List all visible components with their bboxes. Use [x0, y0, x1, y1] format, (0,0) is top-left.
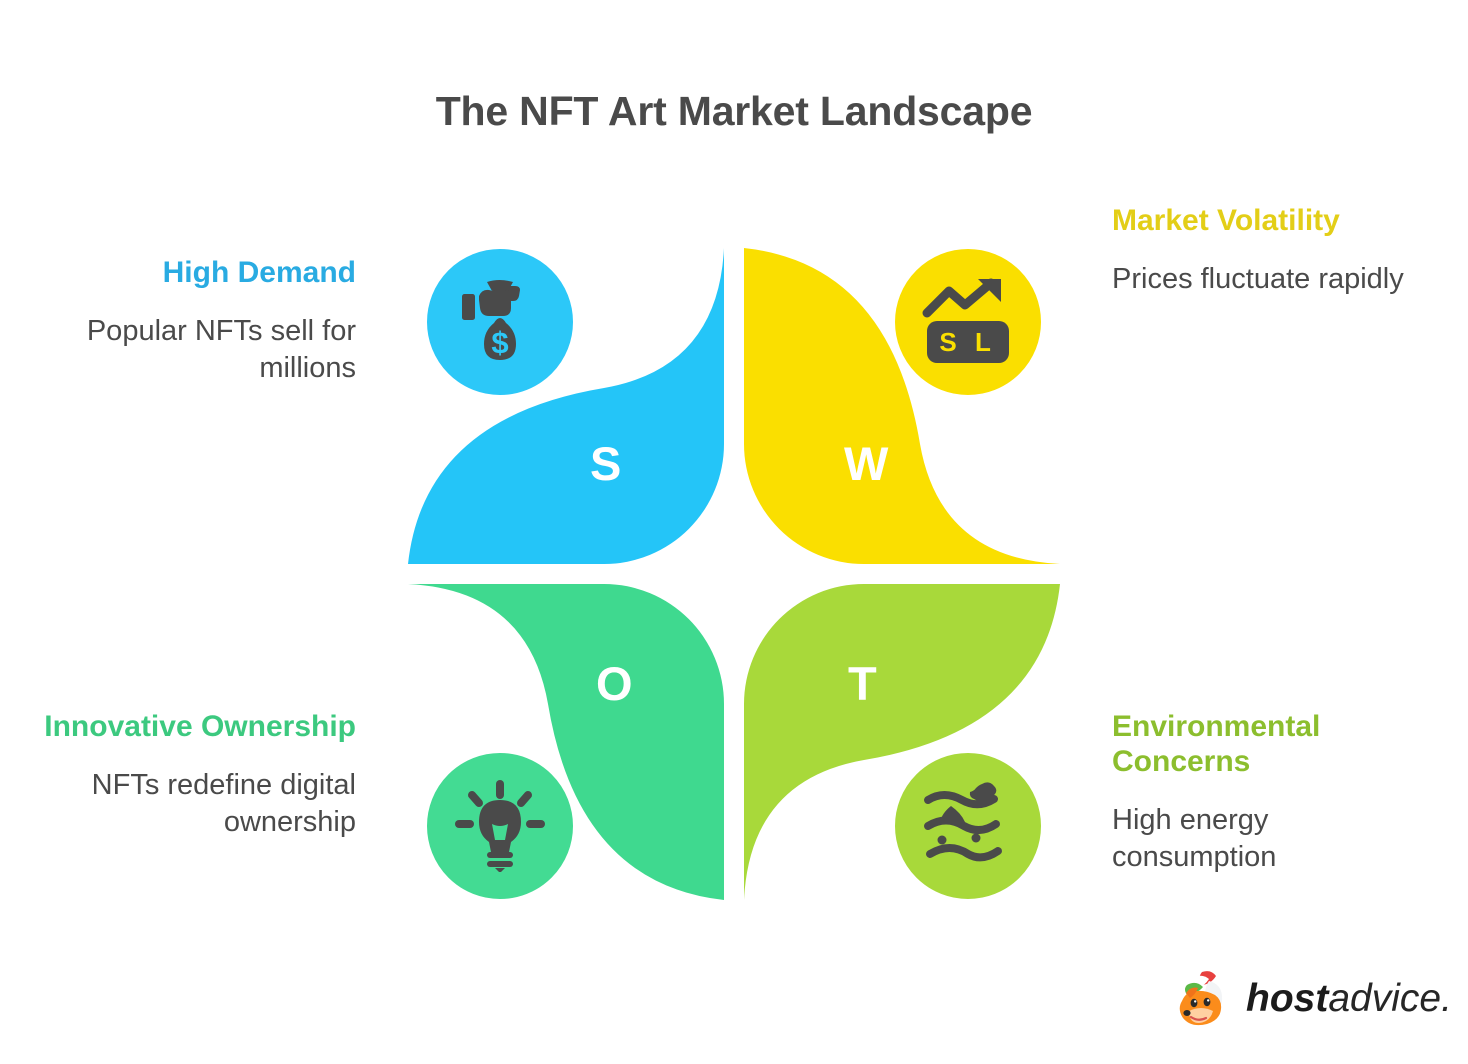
- lightbulb-idea-icon: [454, 780, 546, 872]
- icon-bubble-opportunities[interactable]: [422, 748, 578, 904]
- stock-chart-short-long-icon: S L: [921, 275, 1015, 369]
- money-bag-in-hand-icon: $: [454, 276, 546, 368]
- brand-word-advice: advice.: [1328, 977, 1452, 1020]
- caption-heading-threats: Environmental Concerns: [1112, 710, 1432, 780]
- caption-weaknesses: Market Volatility Prices fluctuate rapid…: [1112, 204, 1432, 298]
- quadrant-weaknesses[interactable]: W S L: [744, 248, 1060, 564]
- quadrant-letter-threats: T: [848, 660, 877, 707]
- quadrant-letter-weaknesses: W: [844, 440, 888, 487]
- quadrant-threats[interactable]: T: [744, 584, 1060, 900]
- page-title: The NFT Art Market Landscape: [0, 88, 1468, 135]
- brand-wordmark: hostadvice.: [1246, 979, 1452, 1018]
- icon-bubble-strengths[interactable]: $: [422, 244, 578, 400]
- caption-body-threats: High energy consumption: [1112, 802, 1432, 877]
- caption-strengths: High Demand Popular NFTs sell for millio…: [36, 256, 356, 388]
- caption-threats: Environmental Concerns High energy consu…: [1112, 710, 1432, 877]
- water-pollution-icon: [920, 778, 1016, 874]
- swot-matrix: S $: [408, 248, 1060, 900]
- icon-bubble-weaknesses[interactable]: S L: [890, 244, 1046, 400]
- caption-heading-opportunities: Innovative Ownership: [36, 710, 356, 745]
- swot-infographic: The NFT Art Market Landscape S: [0, 0, 1468, 1064]
- caption-body-weaknesses: Prices fluctuate rapidly: [1112, 261, 1432, 299]
- quadrant-opportunities[interactable]: O: [408, 584, 724, 900]
- brand-word-host: host: [1246, 977, 1328, 1020]
- quadrant-strengths[interactable]: S $: [408, 248, 724, 564]
- caption-heading-strengths: High Demand: [36, 256, 356, 291]
- stock-chart-long-label: L: [975, 327, 991, 357]
- caption-opportunities: Innovative Ownership NFTs redefine digit…: [36, 710, 356, 842]
- stock-chart-short-label: S: [939, 327, 956, 357]
- caption-body-strengths: Popular NFTs sell for millions: [36, 313, 356, 388]
- caption-body-opportunities: NFTs redefine digital ownership: [36, 767, 356, 842]
- icon-bubble-threats[interactable]: [890, 748, 1046, 904]
- caption-heading-weaknesses: Market Volatility: [1112, 204, 1432, 239]
- quadrant-letter-strengths: S: [590, 440, 621, 487]
- quadrant-letter-opportunities: O: [596, 660, 633, 707]
- money-bag-currency-label: $: [491, 325, 508, 360]
- hostadvice-logo[interactable]: hostadvice.: [1178, 962, 1436, 1034]
- fox-mascot-icon: [1178, 967, 1240, 1029]
